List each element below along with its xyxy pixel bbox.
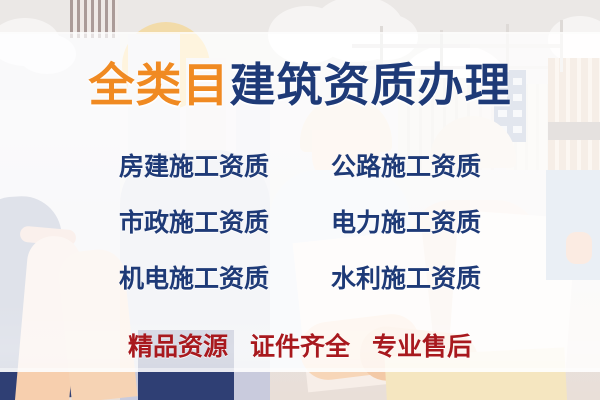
tagline-part-resources: 精品资源 (128, 330, 228, 364)
service-item-power[interactable]: 电力施工资质 (312, 208, 500, 238)
service-grid: 房建施工资质 公路施工资质 市政施工资质 电力施工资质 机电施工资质 水利施工资… (100, 152, 500, 294)
service-item-housing[interactable]: 房建施工资质 (100, 152, 288, 182)
tagline: 精品资源证件齐全专业售后 (0, 330, 600, 364)
service-item-electromechanical[interactable]: 机电施工资质 (100, 264, 288, 294)
headline: 全类目建筑资质办理 (0, 58, 600, 112)
service-item-water[interactable]: 水利施工资质 (312, 264, 500, 294)
tagline-part-support: 专业售后 (372, 330, 472, 364)
tagline-part-credentials: 证件齐全 (250, 330, 350, 364)
banner-content: 全类目建筑资质办理 房建施工资质 公路施工资质 市政施工资质 电力施工资质 机电… (0, 0, 600, 400)
promo-banner: 全类目建筑资质办理 房建施工资质 公路施工资质 市政施工资质 电力施工资质 机电… (0, 0, 600, 400)
service-item-municipal[interactable]: 市政施工资质 (100, 208, 288, 238)
service-item-highway[interactable]: 公路施工资质 (312, 152, 500, 182)
headline-highlight: 全类目 (89, 58, 230, 112)
headline-main: 建筑资质办理 (230, 58, 512, 112)
